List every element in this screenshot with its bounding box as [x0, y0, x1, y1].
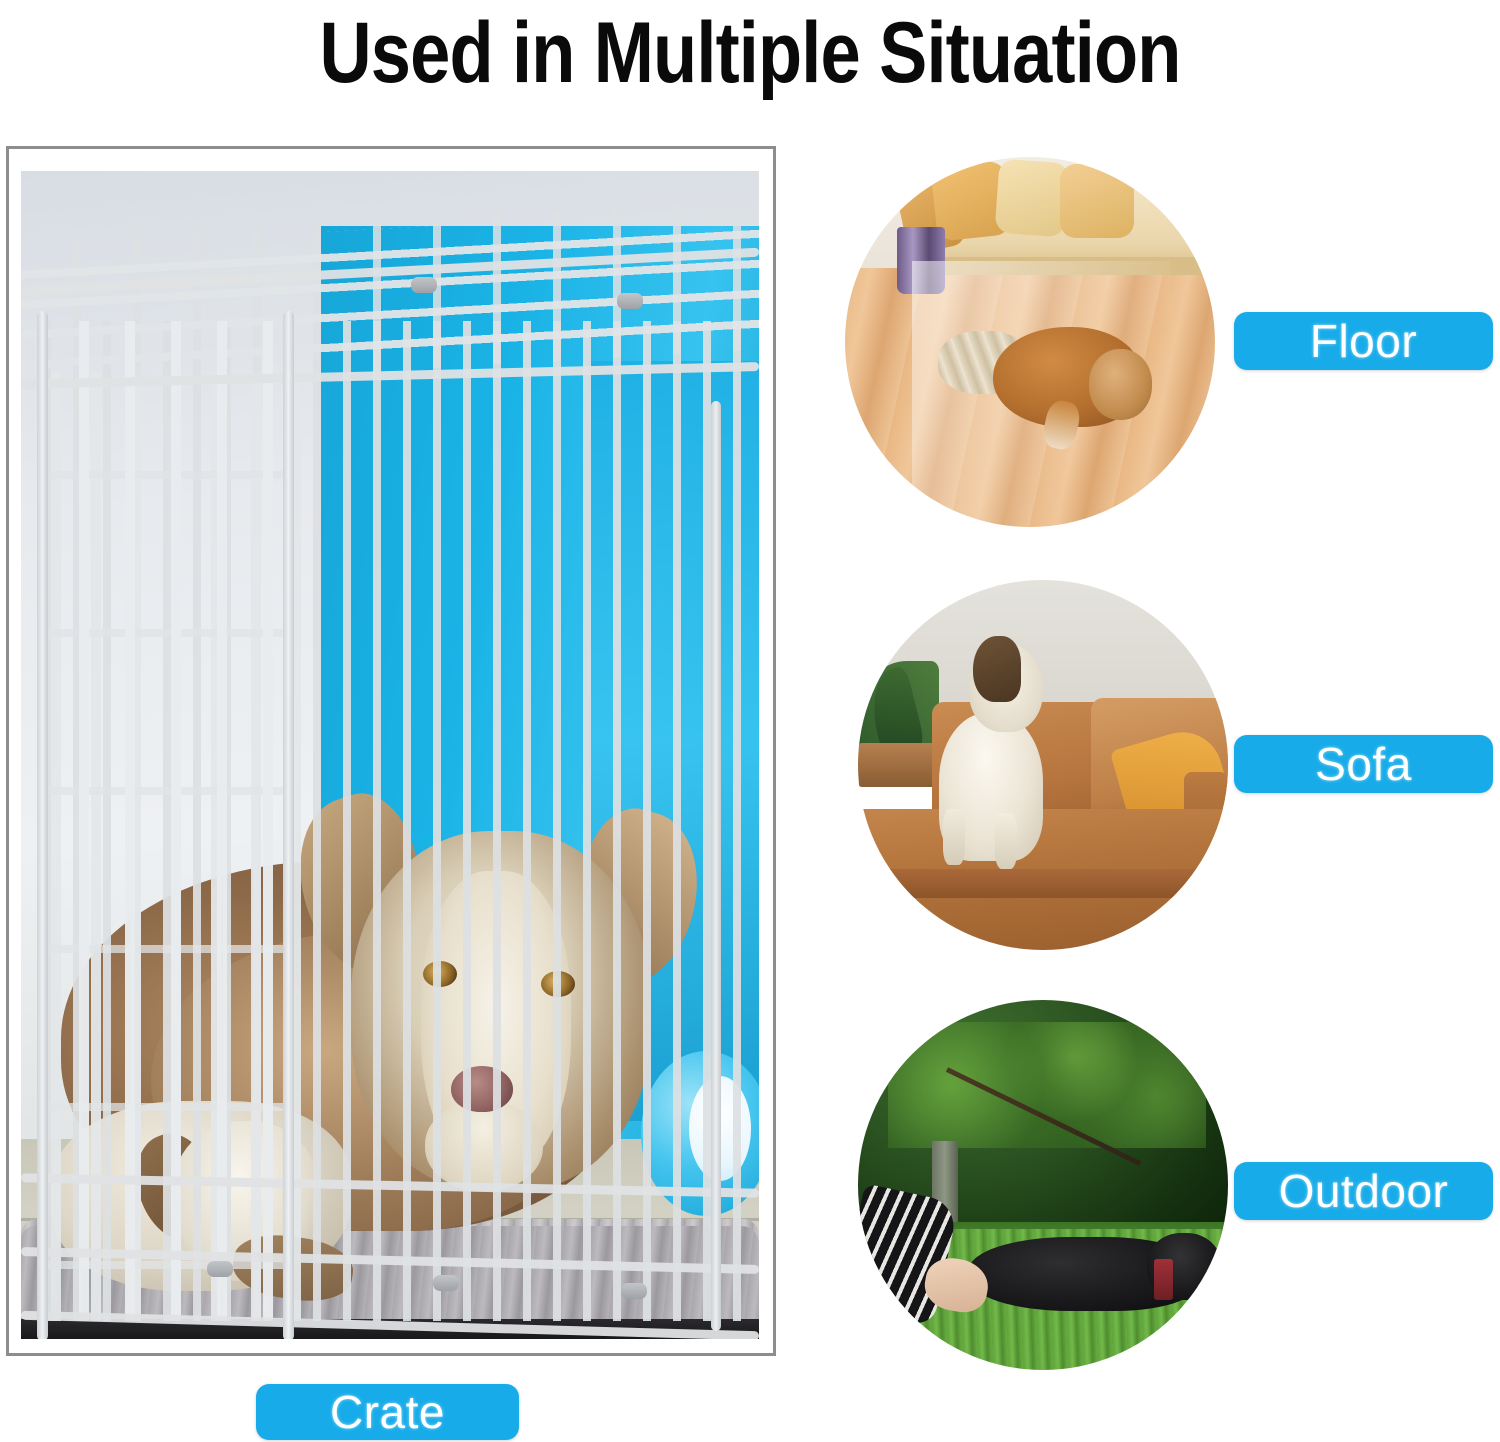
label-badge-outdoor-text: Outdoor: [1279, 1168, 1449, 1214]
situation-photo-sofa: [858, 580, 1228, 950]
crate-rear-post: [711, 401, 721, 1331]
crate-photo: [21, 171, 759, 1339]
outdoor-scene-foliage: [888, 1022, 1206, 1148]
crate-door-frame-left: [37, 311, 48, 1339]
crate-connector-clip: [207, 1261, 233, 1277]
floor-scene-dog-head: [1089, 349, 1152, 419]
crate-photo-frame: [6, 146, 776, 1356]
label-badge-crate-text: Crate: [330, 1389, 445, 1435]
sofa-scene-seat-edge: [858, 869, 1228, 899]
page-title: Used in Multiple Situation: [120, 0, 1380, 108]
crate-connector-clip: [411, 277, 437, 293]
label-badge-floor: Floor: [1234, 312, 1493, 370]
label-badge-crate: Crate: [256, 1384, 519, 1440]
crate-door-frame-right: [283, 311, 294, 1339]
sofa-scene-dog-leg: [943, 809, 965, 865]
crate-connector-clip: [433, 1275, 459, 1291]
situation-photo-outdoor: [858, 1000, 1228, 1370]
outdoor-scene-dog-collar: [1154, 1259, 1173, 1300]
label-badge-floor-text: Floor: [1310, 318, 1417, 364]
floor-scene-pillow: [994, 158, 1069, 237]
label-badge-sofa: Sofa: [1234, 735, 1493, 793]
floor-scene-pillow: [1060, 164, 1134, 238]
crate-connector-clip: [621, 1283, 647, 1299]
situation-photo-floor: [845, 157, 1215, 527]
label-badge-outdoor: Outdoor: [1234, 1162, 1493, 1220]
sofa-scene-dog-leg: [995, 813, 1017, 869]
crate-door-panel: [43, 321, 293, 1321]
label-badge-sofa-text: Sofa: [1315, 741, 1412, 787]
crate-connector-clip: [617, 293, 643, 309]
sofa-scene-planter: [858, 743, 939, 787]
sofa-scene-dog-topknot: [973, 636, 1021, 703]
